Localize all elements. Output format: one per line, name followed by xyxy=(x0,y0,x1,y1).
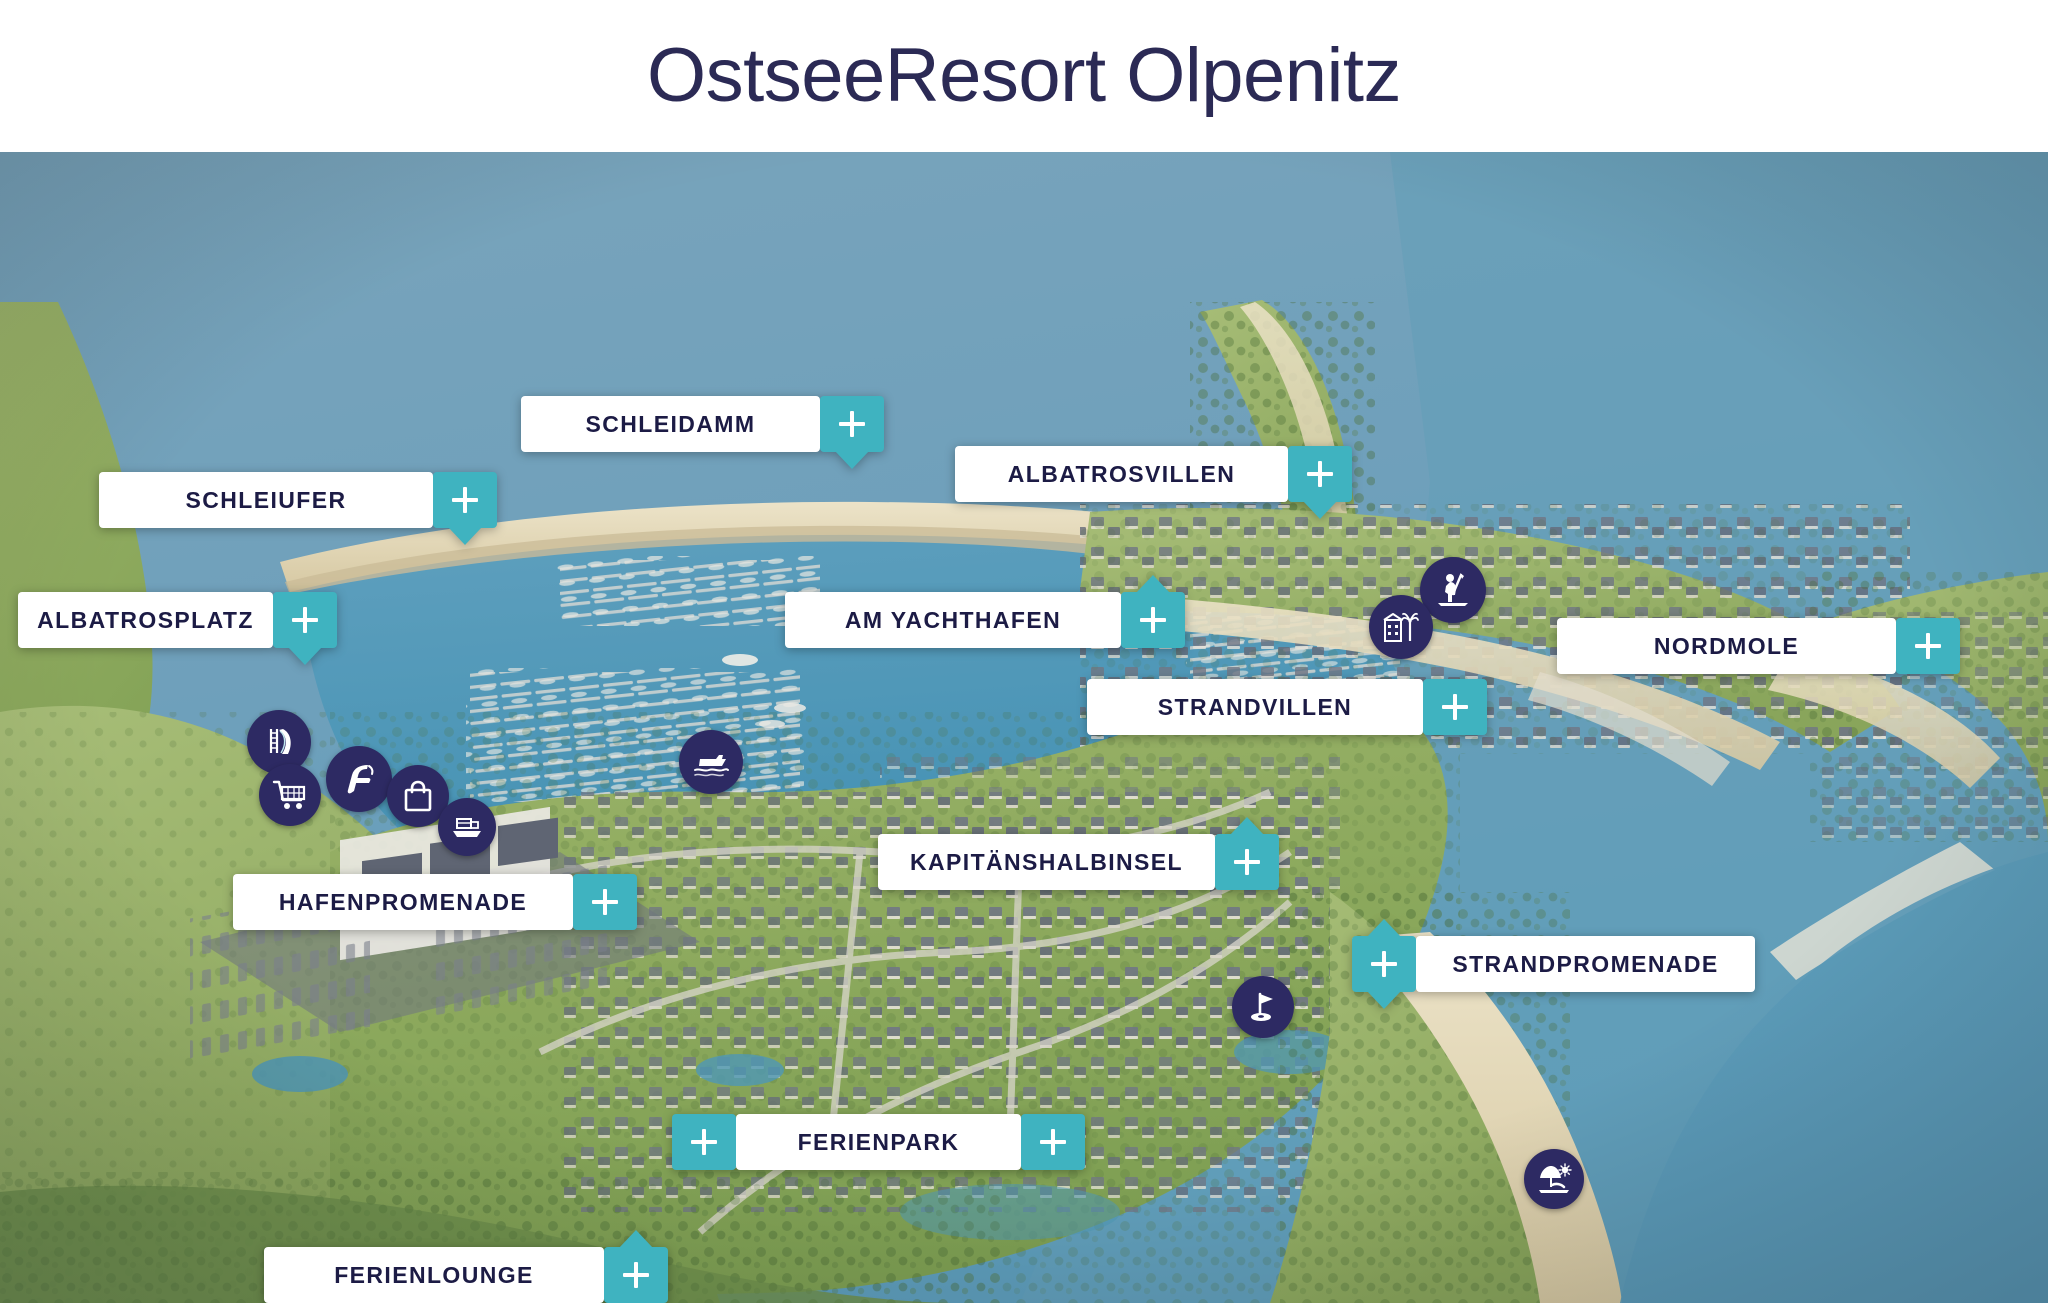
plus-icon[interactable] xyxy=(604,1247,668,1303)
hotspot-strandpromenade[interactable]: STRANDPROMENADE xyxy=(1352,936,1755,992)
plus-icon[interactable] xyxy=(820,396,884,452)
hotspot-label: AM YACHTHAFEN xyxy=(845,609,1061,632)
hotspot-schleiufer[interactable]: SCHLEIUFER xyxy=(99,472,497,528)
hotspot-nordmole[interactable]: NORDMOLE xyxy=(1557,618,1960,674)
hotspot-strandvillen[interactable]: STRANDVILLEN xyxy=(1087,679,1487,735)
golf-flag-icon[interactable] xyxy=(1232,976,1294,1038)
hotspot-ferienpark[interactable]: FERIENPARK xyxy=(672,1114,1085,1170)
plus-icon[interactable] xyxy=(1288,446,1352,502)
resort-map[interactable]: SCHLEIDAMM SCHLEIUFER ALBATROSVILLEN ALB… xyxy=(0,152,2048,1303)
speedboat-icon[interactable] xyxy=(679,730,743,794)
hotspot-label: NORDMOLE xyxy=(1654,635,1799,658)
water-slide-icon[interactable] xyxy=(247,710,311,774)
motorboat-icon[interactable] xyxy=(438,798,496,856)
brand-f-icon[interactable] xyxy=(326,746,392,812)
hotspot-pill[interactable]: FERIENLOUNGE xyxy=(264,1247,604,1303)
hotspot-hafenpromenade[interactable]: HAFENPROMENADE xyxy=(233,874,637,930)
page-header: OstseeResort Olpenitz xyxy=(0,0,2048,152)
hotspot-label: STRANDVILLEN xyxy=(1158,696,1352,719)
plus-icon-right[interactable] xyxy=(1021,1114,1085,1170)
hotspot-label: FERIENPARK xyxy=(798,1131,960,1154)
hotspot-albatrosvillen[interactable]: ALBATROSVILLEN xyxy=(955,446,1352,502)
hotspot-pill[interactable]: NORDMOLE xyxy=(1557,618,1896,674)
hotspot-am-yachthafen[interactable]: AM YACHTHAFEN xyxy=(785,592,1185,648)
plus-icon[interactable] xyxy=(1896,618,1960,674)
hotspot-pill[interactable]: STRANDPROMENADE xyxy=(1416,936,1755,992)
hotspot-label: STRANDPROMENADE xyxy=(1452,953,1718,976)
hotspot-kapitaenshalbinsel[interactable]: KAPITÄNSHALBINSEL xyxy=(878,834,1279,890)
plus-icon[interactable] xyxy=(273,592,337,648)
hotspot-pill[interactable]: STRANDVILLEN xyxy=(1087,679,1423,735)
plus-icon[interactable] xyxy=(1352,936,1416,992)
hotspot-label: HAFENPROMENADE xyxy=(279,891,527,914)
hotspot-pill[interactable]: FERIENPARK xyxy=(736,1114,1021,1170)
plus-icon[interactable] xyxy=(573,874,637,930)
shopping-cart-icon[interactable] xyxy=(259,764,321,826)
hotspot-pill[interactable]: ALBATROSVILLEN xyxy=(955,446,1288,502)
hotspot-pill[interactable]: KAPITÄNSHALBINSEL xyxy=(878,834,1215,890)
beach-umbrella-icon[interactable] xyxy=(1524,1149,1584,1209)
plus-icon[interactable] xyxy=(1121,592,1185,648)
plus-icon[interactable] xyxy=(1423,679,1487,735)
hotspot-pill[interactable]: AM YACHTHAFEN xyxy=(785,592,1121,648)
page-title: OstseeResort Olpenitz xyxy=(647,38,1401,114)
hotspot-pill[interactable]: SCHLEIUFER xyxy=(99,472,433,528)
hotspot-ferienlounge[interactable]: FERIENLOUNGE xyxy=(264,1247,668,1303)
hotspot-label: SCHLEIUFER xyxy=(186,489,347,512)
hotspot-label: KAPITÄNSHALBINSEL xyxy=(910,851,1183,874)
hotspot-label: FERIENLOUNGE xyxy=(334,1264,534,1287)
plus-icon-left[interactable] xyxy=(672,1114,736,1170)
hotspot-albatrosplatz[interactable]: ALBATROSPLATZ xyxy=(18,592,337,648)
hotspot-label: ALBATROSPLATZ xyxy=(37,609,254,632)
hotspot-pill[interactable]: ALBATROSPLATZ xyxy=(18,592,273,648)
hotspot-schleidamm[interactable]: SCHLEIDAMM xyxy=(521,396,884,452)
hotspot-label: SCHLEIDAMM xyxy=(586,413,756,436)
resort-building-icon[interactable] xyxy=(1369,595,1433,659)
plus-icon[interactable] xyxy=(1215,834,1279,890)
hotspot-label: ALBATROSVILLEN xyxy=(1008,463,1235,486)
hotspot-pill[interactable]: HAFENPROMENADE xyxy=(233,874,573,930)
plus-icon[interactable] xyxy=(433,472,497,528)
hotspot-pill[interactable]: SCHLEIDAMM xyxy=(521,396,820,452)
